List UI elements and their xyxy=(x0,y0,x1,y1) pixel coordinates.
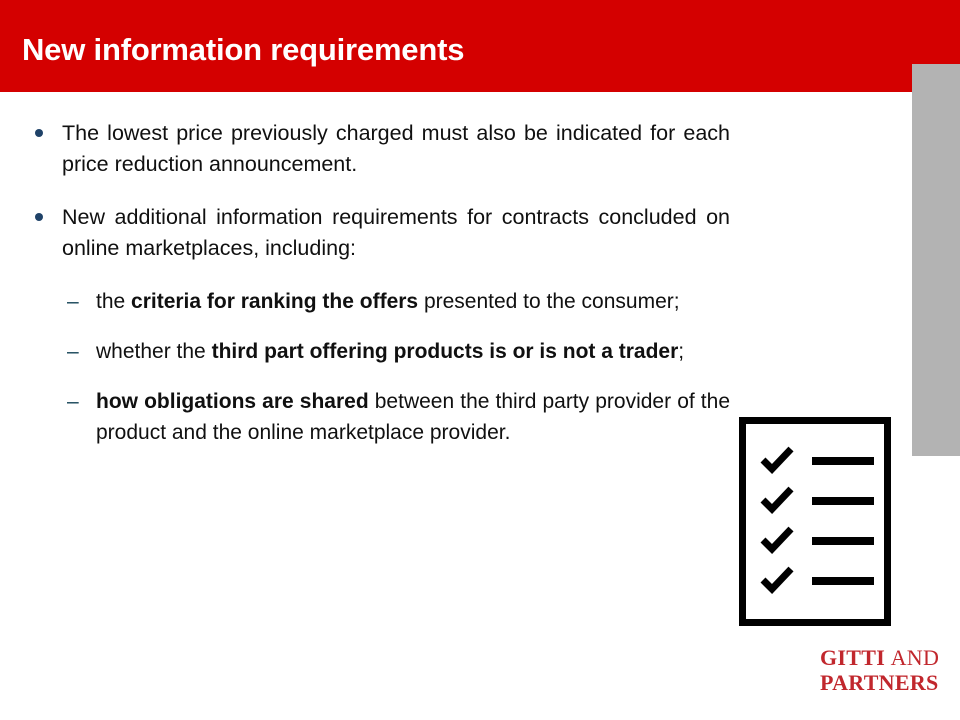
list-item: – whether the third part offering produc… xyxy=(60,336,730,367)
logo-word-partners: PARTNERS xyxy=(820,670,939,695)
line-bar xyxy=(812,457,874,465)
check-mark-icon xyxy=(760,486,796,514)
bullet-dot-icon xyxy=(35,213,43,221)
list-item: New additional information requirements … xyxy=(26,202,730,264)
logo-line-1: GITTI AND xyxy=(820,645,956,670)
logo-word-gitti: GITTI xyxy=(820,645,885,670)
list-item-text-plain: whether the xyxy=(96,340,212,363)
list-item-text-plain-2: ; xyxy=(678,340,684,363)
list-item-text-plain-2: presented to the consumer; xyxy=(418,290,680,313)
check-mark-icon xyxy=(760,566,796,594)
logo: GITTI AND PARTNERS xyxy=(820,645,956,695)
sub-list: – the criteria for ranking the offers pr… xyxy=(26,286,730,448)
line-bar xyxy=(812,537,874,545)
line-bar xyxy=(812,577,874,585)
list-item-text-bold: third part offering products is or is no… xyxy=(212,340,679,363)
check-mark-icon xyxy=(760,446,796,474)
logo-line-2: PARTNERS xyxy=(820,670,956,695)
list-item: – the criteria for ranking the offers pr… xyxy=(60,286,730,317)
en-dash-icon: – xyxy=(67,386,79,417)
en-dash-icon: – xyxy=(67,286,79,317)
en-dash-icon: – xyxy=(67,336,79,367)
list-item-text-plain: the xyxy=(96,290,131,313)
content-body: The lowest price previously charged must… xyxy=(26,118,730,448)
checklist-icon xyxy=(739,417,891,626)
slide: New information requirements The lowest … xyxy=(0,0,960,720)
decorative-side-bar xyxy=(912,64,960,456)
checklist-row xyxy=(760,446,884,474)
list-item: – how obligations are shared between the… xyxy=(60,386,730,448)
logo-word-and: AND xyxy=(891,645,940,670)
list-item-text: The lowest price previously charged must… xyxy=(62,121,730,176)
list-item-text: New additional information requirements … xyxy=(62,205,730,260)
list-item: The lowest price previously charged must… xyxy=(26,118,730,180)
page-title: New information requirements xyxy=(22,30,464,70)
checklist-row xyxy=(760,566,884,594)
bullet-dot-icon xyxy=(35,129,43,137)
checklist-row xyxy=(760,526,884,554)
check-mark-icon xyxy=(760,526,796,554)
list-item-text-bold: criteria for ranking the offers xyxy=(131,290,418,313)
checklist-row xyxy=(760,486,884,514)
line-bar xyxy=(812,497,874,505)
list-item-text-bold: how obligations are shared xyxy=(96,390,369,413)
